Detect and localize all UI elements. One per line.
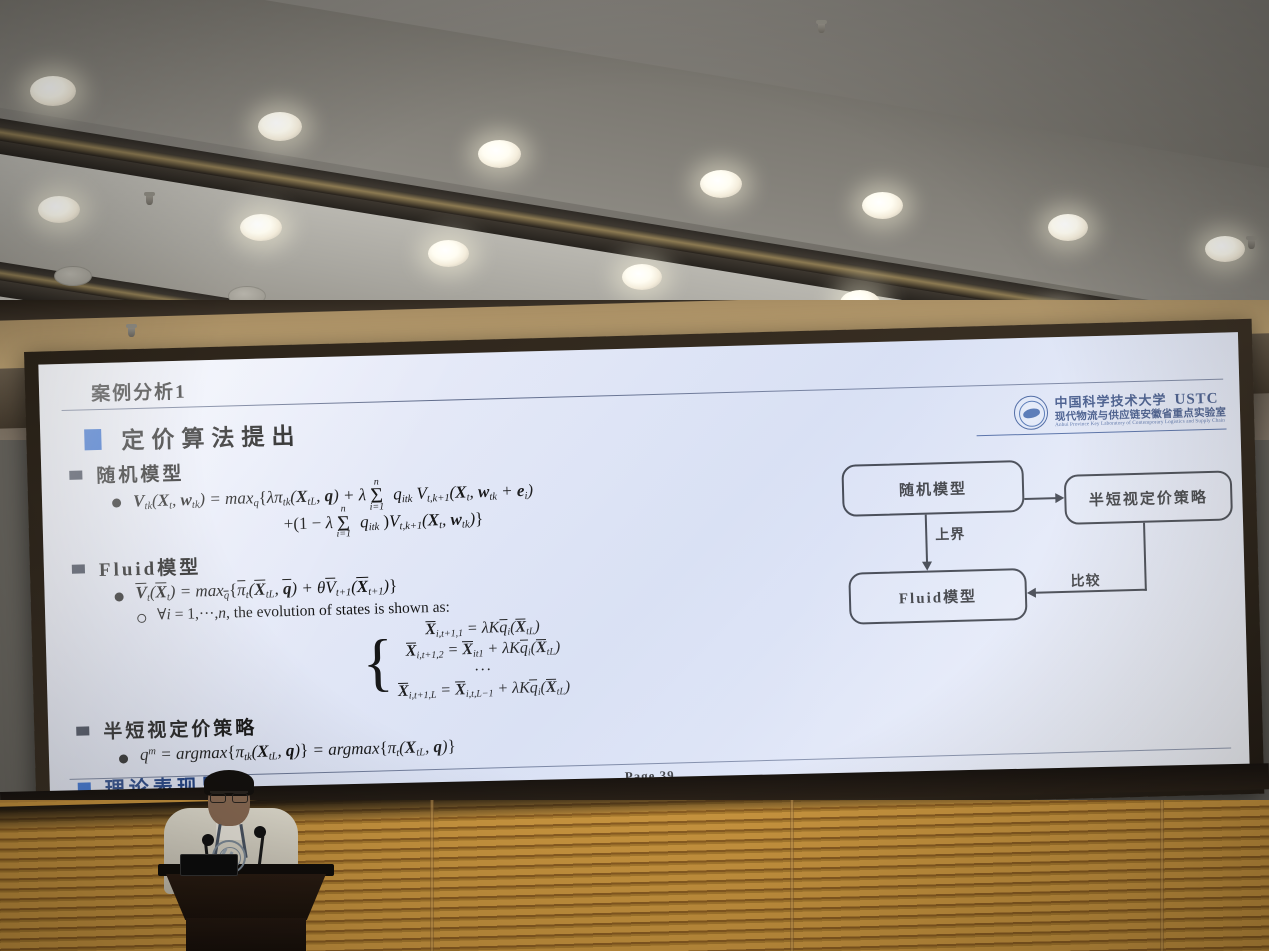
arrowhead-icon [1055,493,1064,503]
lectern [158,864,334,951]
diagram-edge-stochastic-to-fluid [925,515,928,563]
square-bullet-icon [84,428,102,449]
ceiling-downlight [240,214,282,241]
ceiling-downlight [38,196,80,223]
diagram-node-fluid-model: Fluid模型 [848,568,1027,625]
dot-bullet-icon [112,498,121,507]
sprinkler-head-icon [818,22,825,33]
logo-university-name-cn: 中国科学技术大学 [1054,394,1166,411]
model-relationship-diagram: 随机模型 半短视定价策略 Fluid模型 上界 比较 [841,450,1236,640]
sprinkler-head-icon [1248,238,1255,249]
diagram-edge-label-upper-bound: 上界 [935,524,966,545]
wood-panel-seam [430,800,434,951]
ceiling-downlight-off [54,266,92,286]
ceiling-downlight [258,112,302,141]
diagram-edge-label-compare: 比较 [1070,570,1101,591]
wood-panel-seam [1160,800,1164,951]
lectern-base [186,918,306,951]
logo-university-abbr: USTC [1174,391,1218,408]
section-label: 半短视定价策略 [103,713,258,744]
diagram-edge-stochastic-to-semimyopic [1024,497,1056,500]
ceiling-downlight [30,76,76,106]
dot-bullet-icon [115,592,124,601]
section-label: 随机模型 [96,459,185,488]
equation-lines: Xi,t+1,1 = λKqi(XtL) Xi,t+1,2 = Xit1 + λ… [396,616,570,703]
square-bullet-icon [76,726,89,735]
diagram-node-stochastic-model: 随机模型 [841,460,1024,517]
slide-heading-1: 定价算法提出 [121,417,302,456]
ceiling-downlight [862,192,903,219]
sprinkler-head-icon [128,326,135,337]
eyeglasses-icon [210,791,248,799]
projection-screen: 案例分析1 中国科学技术大学 USTC 现代物流与供应链安徽省重点实验室 Anh… [38,332,1250,812]
ceiling-downlight [478,140,521,168]
laptop-on-lectern [180,854,238,876]
logo-text-block: 中国科学技术大学 USTC 现代物流与供应链安徽省重点实验室 Anhui Pro… [1054,391,1226,429]
wood-panel-seam [790,800,794,951]
ustc-lab-logo: 中国科学技术大学 USTC 现代物流与供应链安徽省重点实验室 Anhui Pro… [1013,391,1226,431]
ustc-emblem-icon [1013,395,1048,430]
ceiling-downlight [622,264,662,290]
left-brace-glyph: { [362,636,394,689]
projection-screen-frame: 案例分析1 中国科学技术大学 USTC 现代物流与供应链安徽省重点实验室 Anh… [24,319,1264,827]
ceiling-downlight [1048,214,1088,241]
presentation-slide: 案例分析1 中国科学技术大学 USTC 现代物流与供应链安徽省重点实验室 Anh… [38,332,1250,812]
lectern-front-panel [166,874,326,920]
diagram-node-semi-myopic-policy: 半短视定价策略 [1064,470,1233,525]
diagram-edge-semimyopic-to-fluid-vertical [1143,523,1147,591]
sprinkler-head-icon [146,194,153,205]
speaker-at-podium [150,778,410,951]
square-bullet-icon [72,565,85,574]
section-label: Fluid模型 [99,552,202,582]
ceiling-downlight [1205,236,1245,262]
arrowhead-icon [922,562,932,571]
arrowhead-icon [1027,588,1036,598]
microphone-head-icon [254,826,266,838]
ring-bullet-icon [137,614,146,623]
formula-stochastic-model: Vtk(Xt, wtk) = maxq{λπtk(XtL, q) + λ Σni… [133,478,534,542]
equation-line: Xi,t+1,L = Xi,t,L−1 + λKqi(XtL) [398,677,571,703]
conference-hall-photo: 案例分析1 中国科学技术大学 USTC 现代物流与供应链安徽省重点实验室 Anh… [0,0,1269,951]
ceiling-downlight [700,170,742,198]
dot-bullet-icon [119,754,128,763]
ceiling-downlight [428,240,469,267]
microphone-head-icon [202,834,214,846]
square-bullet-icon [69,470,82,479]
